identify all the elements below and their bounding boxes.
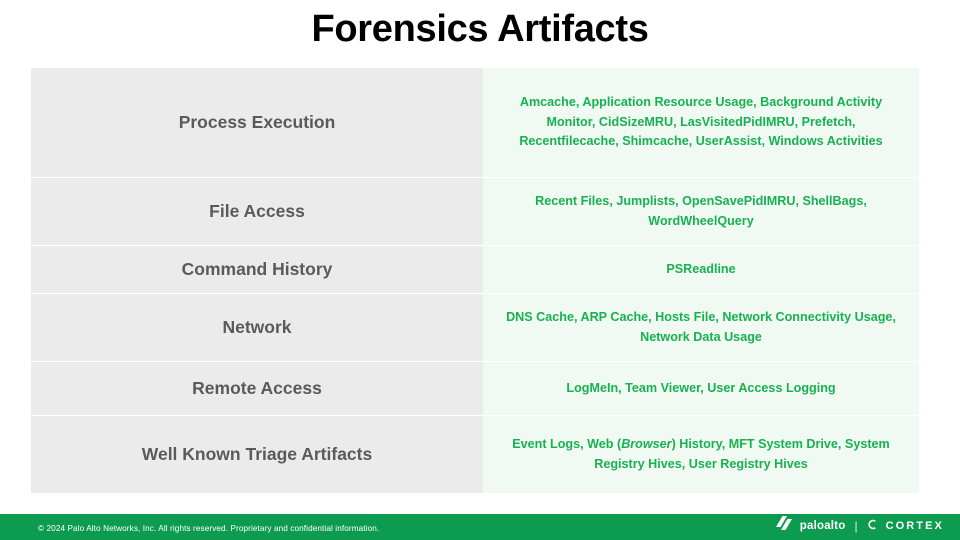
page-title: Forensics Artifacts	[0, 8, 960, 51]
cortex-wordmark: CORTEX	[886, 520, 944, 532]
table-cell-category: Remote Access	[31, 362, 483, 416]
table-row: Network DNS Cache, ARP Cache, Hosts File…	[31, 294, 919, 362]
artifacts-text-emphasis: Browser	[621, 437, 671, 451]
table-cell-artifacts: Recent Files, Jumplists, OpenSavePidIMRU…	[483, 178, 919, 246]
artifacts-label: Recent Files, Jumplists, OpenSavePidIMRU…	[497, 192, 905, 231]
paloalto-logo-icon	[776, 516, 792, 535]
brand-logos: paloalto | CORTEX	[776, 516, 944, 535]
table-cell-artifacts: LogMeIn, Team Viewer, User Access Loggin…	[483, 362, 919, 416]
category-label: File Access	[209, 201, 305, 222]
logo-divider: |	[854, 519, 857, 533]
table-cell-artifacts: DNS Cache, ARP Cache, Hosts File, Networ…	[483, 294, 919, 362]
artifacts-label: DNS Cache, ARP Cache, Hosts File, Networ…	[497, 308, 905, 347]
slide-canvas: Forensics Artifacts Process Execution Am…	[0, 0, 960, 540]
table-row: Process Execution Amcache, Application R…	[31, 68, 919, 178]
table-cell-category: Network	[31, 294, 483, 362]
category-label: Well Known Triage Artifacts	[142, 444, 372, 465]
table-cell-category: Process Execution	[31, 68, 483, 178]
table-cell-category: Command History	[31, 246, 483, 294]
artifacts-label: Amcache, Application Resource Usage, Bac…	[497, 93, 905, 152]
paloalto-wordmark: paloalto	[800, 520, 846, 532]
category-label: Network	[222, 317, 291, 338]
table-cell-artifacts: Event Logs, Web (Browser) History, MFT S…	[483, 416, 919, 494]
table-cell-artifacts: Amcache, Application Resource Usage, Bac…	[483, 68, 919, 178]
cortex-logo-icon	[867, 517, 878, 535]
category-label: Process Execution	[179, 112, 336, 133]
table-cell-category: File Access	[31, 178, 483, 246]
forensics-artifacts-table: Process Execution Amcache, Application R…	[31, 68, 919, 494]
table-cell-artifacts: PSReadline	[483, 246, 919, 294]
table-row: Command History PSReadline	[31, 246, 919, 294]
table-row: Well Known Triage Artifacts Event Logs, …	[31, 416, 919, 494]
artifacts-label: LogMeIn, Team Viewer, User Access Loggin…	[566, 379, 835, 399]
table-row: Remote Access LogMeIn, Team Viewer, User…	[31, 362, 919, 416]
artifacts-label: Event Logs, Web (Browser) History, MFT S…	[497, 435, 905, 474]
artifacts-label: PSReadline	[666, 260, 735, 280]
category-label: Command History	[182, 259, 333, 280]
copyright-notice: © 2024 Palo Alto Networks, Inc. All righ…	[38, 524, 379, 533]
artifacts-text-pre: Event Logs, Web (	[512, 437, 621, 451]
table-cell-category: Well Known Triage Artifacts	[31, 416, 483, 494]
category-label: Remote Access	[192, 378, 322, 399]
table-row: File Access Recent Files, Jumplists, Ope…	[31, 178, 919, 246]
